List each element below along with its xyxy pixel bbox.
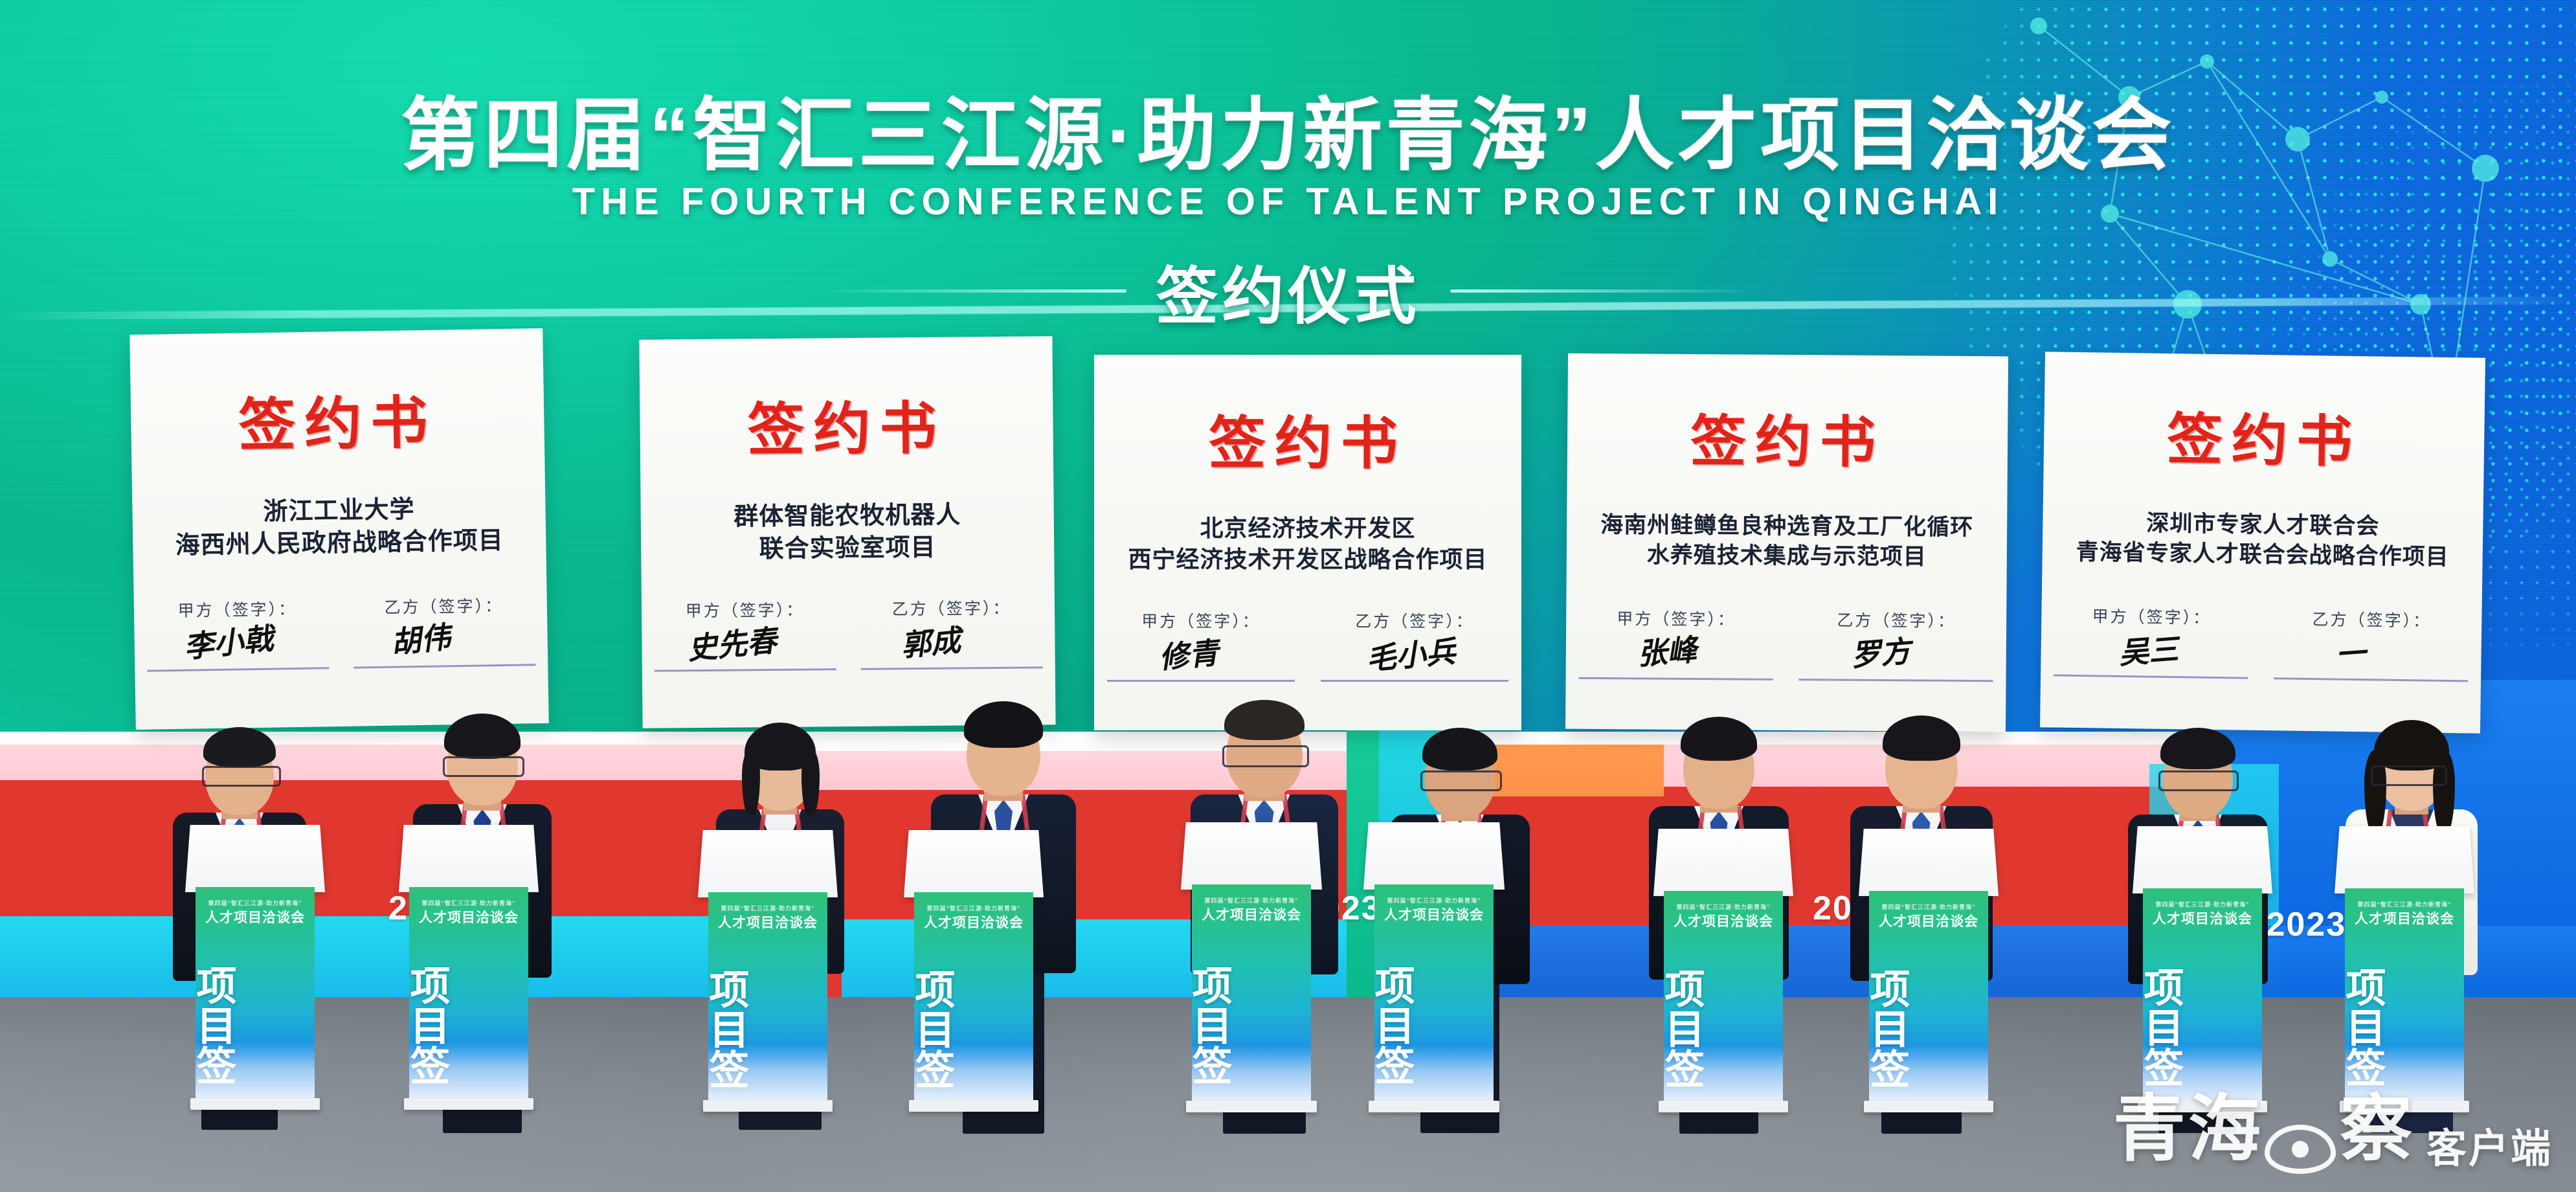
signing-podium: 第四届“智汇三江源·助力新青海” 人才项目洽谈会 项目签约 (1366, 820, 1502, 1103)
board-signature-row: 甲方（签字）： 乙方（签字）： (1566, 606, 2007, 682)
signing-podium: 第四届“智汇三江源·助力新青海” 人才项目洽谈会 项目签约 (906, 827, 1041, 1103)
podium-logo-main: 人才项目洽谈会 (2355, 912, 2454, 927)
party-b-label: 乙方（签字）： (1321, 609, 1508, 632)
party-b-signature: 毛小兵 (1364, 628, 1457, 679)
podium-logo-sup: 第四届“智汇三江源·助力新青海” (196, 899, 314, 907)
party-a-label: 甲方（签字）： (654, 597, 836, 622)
podium-logo-main: 人才项目洽谈会 (1384, 908, 1484, 923)
event-headline-cn: 第四届“智汇三江源·助力新青海”人才项目洽谈会 (0, 71, 2576, 186)
podium-logo-sup: 第四届“智汇三江源·助力新青海” (1869, 903, 1988, 911)
party-b-signature-line (1799, 679, 1993, 682)
podium-panel: 第四届“智汇三江源·助力新青海” 人才项目洽谈会 项目签约 (1664, 891, 1782, 1103)
podium-snow-graphic (196, 1042, 314, 1101)
signing-board: 签约书 浙江工业大学 海西州人民政府战略合作项目 甲方（签字）： 乙方（签字）：… (129, 328, 549, 730)
board-project-line2: 联合实验室项目 (641, 530, 1054, 567)
signing-podium: 第四届“智汇三江源·助力新青海” 人才项目洽谈会 项目签约 (1861, 826, 1996, 1103)
podium-desktop (185, 825, 325, 892)
party-b-label: 乙方（签字）： (2275, 606, 2469, 632)
podium-panel: 第四届“智汇三江源·助力新青海” 人才项目洽谈会 项目签约 (1192, 884, 1312, 1103)
subtitle-rule-right (1450, 289, 1754, 293)
podium-base (404, 1098, 533, 1110)
party-b-column: 乙方（签字）： (2274, 606, 2469, 682)
conference-signing-ceremony-photo: 第四届“智汇三江源·助力新青海”人才项目洽谈会 THE FOURTH CONFE… (0, 0, 2576, 1192)
party-b-signature-line (1321, 680, 1508, 682)
board-project-line1: 北京经济技术开发区 (1094, 513, 1521, 544)
podium-logo: 第四届“智汇三江源·助力新青海” 人才项目洽谈会 (196, 899, 314, 927)
podium-desktop (2335, 826, 2474, 894)
podium-logo: 第四届“智汇三江源·助力新青海” 人才项目洽谈会 (1192, 896, 1312, 924)
podium-logo: 第四届“智汇三江源·助力新青海” 人才项目洽谈会 (1664, 903, 1782, 930)
party-a-signature-line (1579, 677, 1773, 680)
party-b-signature-line (861, 666, 1043, 669)
podium-panel: 第四届“智汇三江源·助力新青海” 人才项目洽谈会 项目签约 (914, 892, 1033, 1103)
signing-board: 签约书 海南州鲑鳟鱼良种选育及工厂化循环 水养殖技术集成与示范项目 甲方（签字）… (1565, 354, 2008, 732)
podium-logo-main: 人才项目洽谈会 (1674, 914, 1773, 929)
subtitle-rule-left (822, 289, 1126, 293)
podium-logo-main: 人才项目洽谈会 (1202, 908, 1301, 923)
podium-logo-main: 人才项目洽谈会 (924, 916, 1024, 930)
podium-snow-graphic (1664, 1045, 1782, 1103)
podium-snow-graphic (914, 1044, 1033, 1103)
signing-podium: 第四届“智汇三江源·助力新青海” 人才项目洽谈会 项目签约 (401, 822, 536, 1101)
podium-logo: 第四届“智汇三江源·助力新青海” 人才项目洽谈会 (1374, 896, 1494, 924)
podium-desktop (698, 830, 838, 897)
party-b-signature: 罗方 (1849, 627, 1912, 675)
signing-board: 签约书 群体智能农牧机器人 联合实验室项目 甲方（签字）： 乙方（签字）： 史先… (639, 336, 1055, 728)
podium-logo: 第四届“智汇三江源·助力新青海” 人才项目洽谈会 (914, 904, 1033, 932)
subtitle-group: 签约仪式 (0, 246, 2576, 336)
board-project-line2: 西宁经济技术开发区战略合作项目 (1094, 544, 1521, 575)
signing-podium: 第四届“智汇三江源·助力新青海” 人才项目洽谈会 项目签约 (1183, 820, 1319, 1103)
board-project-line2: 海西州人民政府战略合作项目 (133, 524, 546, 563)
board-project-line2: 水养殖技术集成与示范项目 (1567, 540, 2007, 573)
podium-panel: 第四届“智汇三江源·助力新青海” 人才项目洽谈会 项目签约 (1869, 891, 1988, 1103)
podium-logo: 第四届“智汇三江源·助力新青海” 人才项目洽谈会 (2143, 900, 2261, 928)
podium-desktop (1859, 829, 1999, 896)
party-b-signature: 郭成 (899, 617, 963, 666)
podium-base (1864, 1101, 1993, 1112)
podium-logo-main: 人才项目洽谈会 (205, 910, 305, 925)
podium-logo-sup: 第四届“智汇三江源·助力新青海” (409, 899, 528, 907)
party-a-label: 甲方（签字）： (2055, 603, 2249, 629)
event-headline-en: THE FOURTH CONFERENCE OF TALENT PROJECT … (0, 180, 2576, 223)
podium-base (1659, 1101, 1788, 1112)
signing-board: 签约书 北京经济技术开发区 西宁经济技术开发区战略合作项目 甲方（签字）： 乙方… (1094, 355, 1521, 730)
party-a-label: 甲方（签字）： (1579, 606, 1773, 631)
board-project: 海南州鲑鳟鱼良种选育及工厂化循环 水养殖技术集成与示范项目 (1567, 510, 2008, 573)
podium-logo: 第四届“智汇三江源·助力新青海” 人才项目洽谈会 (1869, 903, 1988, 930)
signing-board: 签约书 深圳市专家人才联合会 青海省专家人才联合会战略合作项目 甲方（签字）： … (2040, 352, 2485, 733)
podium-desktop (1363, 822, 1505, 890)
signing-podium: 第四届“智汇三江源·助力新青海” 人才项目洽谈会 项目签约 (2135, 824, 2270, 1103)
board-title: 签约书 (640, 381, 1053, 467)
party-b-signature-line (353, 664, 535, 668)
podium-base (2340, 1101, 2469, 1112)
signing-podium: 第四届“智汇三江源·助力新青海” 人才项目洽谈会 项目签约 (188, 822, 322, 1101)
party-b-label: 乙方（签字）： (860, 595, 1042, 620)
podium-snow-graphic (409, 1042, 528, 1101)
podium-desktop (904, 830, 1044, 897)
podium-desktop (2133, 826, 2272, 894)
podium-logo-main: 人才项目洽谈会 (419, 910, 519, 925)
podium-panel: 第四届“智汇三江源·助力新青海” 人才项目洽谈会 项目签约 (1374, 884, 1494, 1103)
board-title: 签约书 (2043, 392, 2485, 478)
podium-snow-graphic (1374, 1045, 1494, 1103)
podium-logo: 第四届“智汇三江源·助力新青海” 人才项目洽谈会 (409, 899, 528, 927)
podium-base (1186, 1101, 1317, 1112)
party-a-signature: 吴三 (2117, 625, 2180, 673)
podium-logo-sup: 第四届“智汇三江源·助力新青海” (914, 904, 1033, 912)
board-project: 浙江工业大学 海西州人民政府战略合作项目 (132, 491, 546, 563)
board-project: 群体智能农牧机器人 联合实验室项目 (641, 498, 1055, 567)
party-a-signature: 张峰 (1635, 626, 1698, 673)
podium-logo: 第四届“智汇三江源·助力新青海” 人才项目洽谈会 (2345, 900, 2463, 928)
signing-podium: 第四届“智汇三江源·助力新青海” 人才项目洽谈会 项目签约 (1656, 826, 1791, 1103)
podium-desktop (1181, 822, 1322, 890)
party-a-label: 甲方（签字）： (1107, 609, 1295, 632)
board-project: 深圳市专家人才联合会 青海省专家人才联合会战略合作项目 (2042, 507, 2483, 573)
board-title: 签约书 (1567, 395, 2008, 479)
party-b-signature-line (2274, 677, 2467, 682)
board-signature-row: 甲方（签字）： 乙方（签字）： (2041, 603, 2482, 682)
podium-logo: 第四届“智汇三江源·助力新青海” 人才项目洽谈会 (708, 904, 827, 932)
party-b-signature: 一 (2334, 629, 2367, 674)
podium-logo-sup: 第四届“智汇三江源·助力新青海” (1192, 896, 1312, 905)
signing-podium: 第四届“智汇三江源·助力新青海” 人才项目洽谈会 项目签约 (2337, 824, 2472, 1103)
podium-base (703, 1100, 833, 1112)
party-a-signature-line (148, 667, 330, 671)
podium-snow-graphic (1192, 1045, 1312, 1103)
podium-logo-sup: 第四届“智汇三江源·助力新青海” (2345, 900, 2463, 908)
party-a-signature: 修青 (1157, 629, 1220, 677)
podium-logo-sup: 第四届“智汇三江源·助力新青海” (708, 904, 827, 912)
board-title: 签约书 (130, 375, 544, 464)
podium-base (2138, 1101, 2267, 1112)
podium-snow-graphic (2345, 1045, 2463, 1103)
podium-logo-main: 人才项目洽谈会 (718, 916, 818, 930)
podium-panel: 第四届“智汇三江源·助力新青海” 人才项目洽谈会 项目签约 (409, 887, 528, 1101)
podium-desktop (399, 825, 539, 892)
podium-panel: 第四届“智汇三江源·助力新青海” 人才项目洽谈会 项目签约 (2143, 888, 2261, 1103)
podium-logo-sup: 第四届“智汇三江源·助力新青海” (1374, 896, 1494, 905)
podium-panel: 第四届“智汇三江源·助力新青海” 人才项目洽谈会 项目签约 (708, 892, 827, 1103)
podium-snow-graphic (708, 1044, 827, 1103)
podium-panel: 第四届“智汇三江源·助力新青海” 人才项目洽谈会 项目签约 (2345, 888, 2463, 1103)
podium-logo-sup: 第四届“智汇三江源·助力新青海” (1664, 903, 1782, 911)
podium-base (909, 1100, 1038, 1112)
podium-logo-sup: 第四届“智汇三江源·助力新青海” (2143, 900, 2261, 908)
podium-logo-main: 人才项目洽谈会 (2153, 912, 2252, 927)
party-a-signature-line (2054, 675, 2247, 679)
board-project: 北京经济技术开发区 西宁经济技术开发区战略合作项目 (1094, 513, 1521, 574)
signing-podium: 第四届“智汇三江源·助力新青海” 人才项目洽谈会 项目签约 (700, 827, 835, 1103)
podium-snow-graphic (1869, 1045, 1988, 1103)
podium-snow-graphic (2143, 1045, 2261, 1103)
podium-panel: 第四届“智汇三江源·助力新青海” 人才项目洽谈会 项目签约 (196, 887, 314, 1101)
board-title: 签约书 (1094, 398, 1521, 480)
party-a-signature-line (655, 668, 836, 671)
board-project-line1: 群体智能农牧机器人 (641, 498, 1054, 534)
board-project-line2: 青海省专家人才联合会战略合作项目 (2042, 537, 2483, 573)
party-a-signature: 史先春 (686, 617, 779, 668)
party-b-signature: 胡伟 (389, 613, 453, 662)
event-subtitle: 签约仪式 (1156, 246, 1420, 336)
party-a-signature: 李小戟 (182, 615, 275, 667)
podium-base (190, 1098, 320, 1110)
podium-desktop (1653, 829, 1793, 896)
podium-base (1369, 1101, 1499, 1112)
podium-logo-main: 人才项目洽谈会 (1879, 914, 1978, 929)
party-a-signature-line (1107, 680, 1295, 682)
board-project-line1: 海南州鲑鳟鱼良种选育及工厂化循环 (1567, 510, 2007, 543)
